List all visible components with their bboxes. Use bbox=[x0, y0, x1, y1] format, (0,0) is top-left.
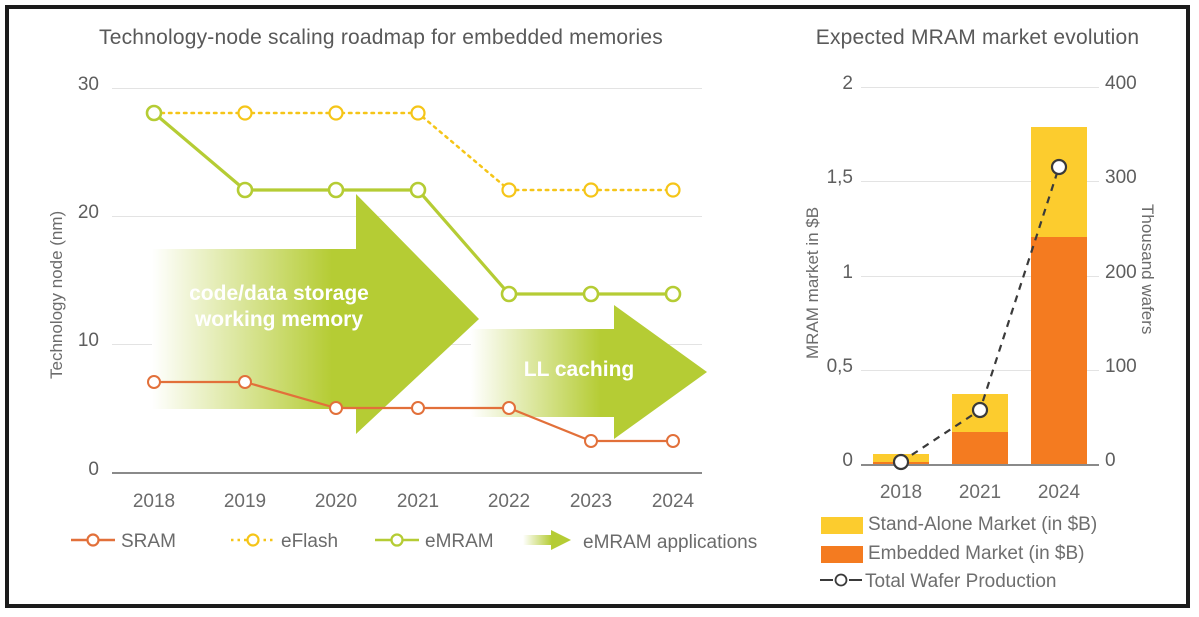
legend-item-emram-applications[interactable]: eMRAM applications bbox=[521, 529, 757, 556]
series-eflash-markers bbox=[148, 107, 680, 197]
arrow-icon bbox=[521, 529, 573, 556]
sram-line-marker-icon bbox=[71, 532, 115, 553]
dashed-marker-line-icon bbox=[819, 572, 863, 593]
legend-item-emram[interactable]: eMRAM bbox=[375, 531, 494, 553]
legend-item-eflash[interactable]: eFlash bbox=[231, 531, 338, 553]
legend-label-total-wafer-production: Total Wafer Production bbox=[865, 571, 1057, 593]
legend-item-standalone-market[interactable]: Stand-Alone Market (in $B) bbox=[821, 514, 1097, 536]
left-chart-series-layer bbox=[9, 9, 769, 569]
right-xtick-2021: 2021 bbox=[940, 482, 1020, 504]
left-xtick-2021: 2021 bbox=[378, 491, 458, 513]
embedded-color-swatch-icon bbox=[821, 546, 863, 563]
wafer-production-layer bbox=[769, 9, 1186, 529]
legend-item-embedded-market[interactable]: Embedded Market (in $B) bbox=[821, 543, 1085, 565]
left-chart-panel: Technology-node scaling roadmap for embe… bbox=[9, 9, 769, 604]
legend-item-sram[interactable]: SRAM bbox=[71, 531, 176, 553]
series-emram-markers bbox=[147, 106, 680, 301]
figure-frame: Technology-node scaling roadmap for embe… bbox=[5, 5, 1190, 608]
wafer-marker-2018 bbox=[894, 455, 908, 469]
left-xtick-2018: 2018 bbox=[114, 491, 194, 513]
left-xtick-2024: 2024 bbox=[633, 491, 713, 513]
legend-label-emram: eMRAM bbox=[425, 531, 494, 553]
legend-label-standalone-market: Stand-Alone Market (in $B) bbox=[868, 514, 1097, 536]
right-chart-panel: Expected MRAM market evolution MRAM mark… bbox=[769, 9, 1186, 604]
emram-line-marker-icon bbox=[375, 532, 419, 553]
right-xtick-2018: 2018 bbox=[861, 482, 941, 504]
left-xtick-2019: 2019 bbox=[205, 491, 285, 513]
eflash-line-marker-icon bbox=[231, 532, 275, 553]
legend-label-emram-applications: eMRAM applications bbox=[583, 532, 757, 554]
left-xtick-2023: 2023 bbox=[551, 491, 631, 513]
series-sram-markers bbox=[148, 376, 679, 447]
series-emram-line bbox=[154, 113, 673, 294]
legend-label-eflash: eFlash bbox=[281, 531, 338, 553]
wafer-marker-2021 bbox=[973, 403, 987, 417]
legend-label-embedded-market: Embedded Market (in $B) bbox=[868, 543, 1085, 565]
legend-label-sram: SRAM bbox=[121, 531, 176, 553]
wafer-marker-2024 bbox=[1052, 160, 1066, 174]
legend-item-total-wafer-production[interactable]: Total Wafer Production bbox=[819, 571, 1057, 593]
right-xtick-2024: 2024 bbox=[1019, 482, 1099, 504]
left-xtick-2022: 2022 bbox=[469, 491, 549, 513]
standalone-color-swatch-icon bbox=[821, 517, 863, 534]
left-xtick-2020: 2020 bbox=[296, 491, 376, 513]
